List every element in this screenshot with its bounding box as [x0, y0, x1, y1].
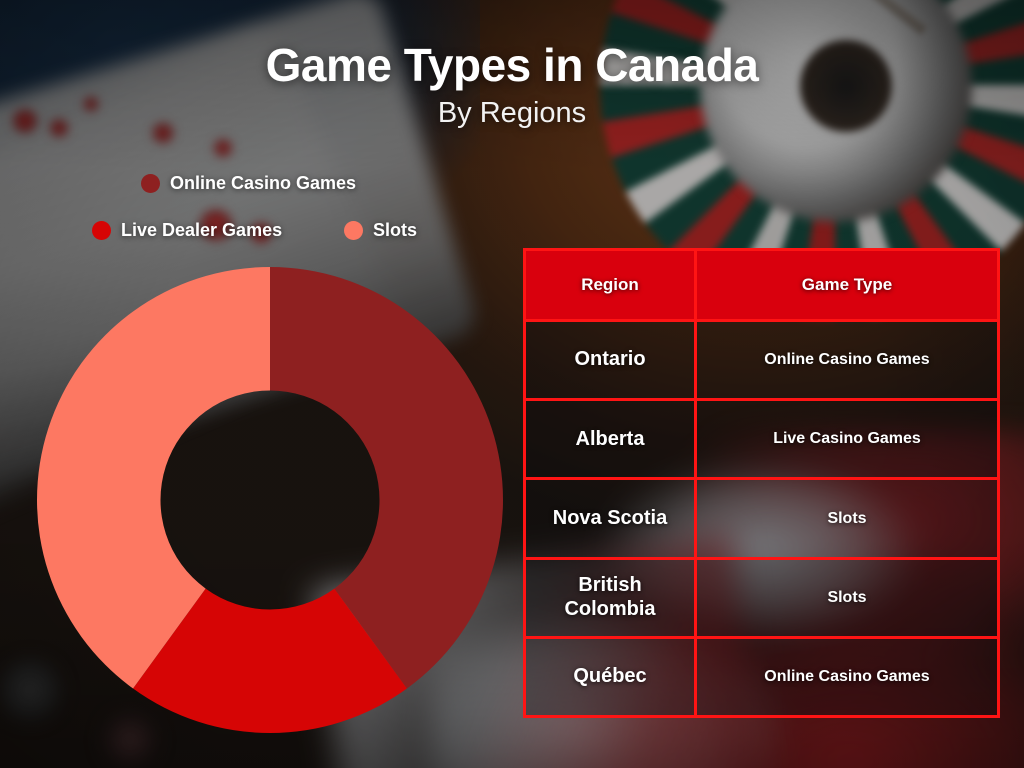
- legend-item-online-casino-games[interactable]: Online Casino Games: [141, 173, 356, 194]
- table-header-game-type: Game Type: [697, 251, 997, 319]
- table-header-row: Region Game Type: [526, 251, 997, 319]
- table-cell-region: British Colombia: [526, 560, 697, 636]
- table-cell-region: Québec: [526, 639, 697, 715]
- legend-item-label: Slots: [373, 220, 417, 241]
- donut-chart-svg: [37, 267, 503, 733]
- page-subtitle: By Regions: [0, 97, 1024, 130]
- table-cell-region: Nova Scotia: [526, 480, 697, 556]
- table-cell-game-type: Slots: [697, 560, 997, 636]
- legend-item-slots[interactable]: Slots: [344, 220, 417, 241]
- legend-item-live-dealer-games[interactable]: Live Dealer Games: [92, 220, 282, 241]
- page-title: Game Types in Canada: [0, 38, 1024, 92]
- legend-dot-icon: [141, 174, 160, 193]
- donut-chart: [37, 267, 503, 733]
- legend-item-label: Online Casino Games: [170, 173, 356, 194]
- table-header-region: Region: [526, 251, 697, 319]
- regions-game-type-table: Region Game Type Ontario Online Casino G…: [523, 248, 1000, 718]
- table-cell-game-type: Online Casino Games: [697, 639, 997, 715]
- table-cell-region: Alberta: [526, 401, 697, 477]
- table-row[interactable]: Nova Scotia Slots: [526, 477, 997, 556]
- table-row[interactable]: British Colombia Slots: [526, 557, 997, 636]
- legend-item-label: Live Dealer Games: [121, 220, 282, 241]
- table-cell-game-type: Online Casino Games: [697, 322, 997, 398]
- table-row[interactable]: Ontario Online Casino Games: [526, 319, 997, 398]
- legend-dot-icon: [344, 221, 363, 240]
- table-row[interactable]: Québec Online Casino Games: [526, 636, 997, 715]
- table-cell-game-type: Slots: [697, 480, 997, 556]
- table-row[interactable]: Alberta Live Casino Games: [526, 398, 997, 477]
- table-cell-game-type: Live Casino Games: [697, 401, 997, 477]
- table-cell-region: Ontario: [526, 322, 697, 398]
- legend-dot-icon: [92, 221, 111, 240]
